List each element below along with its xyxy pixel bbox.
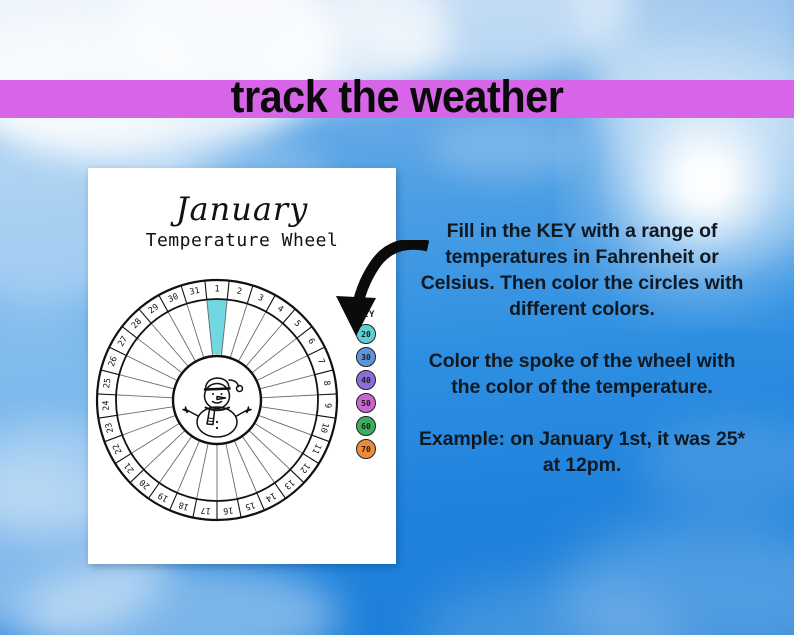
wheel-spoke[interactable] [258, 415, 311, 435]
wheel-day-label: 3 [256, 293, 265, 304]
key-circle[interactable]: 40 [356, 370, 376, 390]
key-label: KEY [338, 310, 394, 320]
wheel-day-label: 10 [318, 421, 330, 433]
wheel-day-label: 15 [244, 499, 257, 512]
cloud [430, 120, 580, 180]
wheel-spoke[interactable] [131, 423, 179, 453]
wheel-band-divider [193, 499, 197, 518]
key-circle[interactable]: 30 [356, 347, 376, 367]
wheel-day-label: 24 [101, 400, 112, 411]
wheel-day-label: 17 [200, 504, 211, 515]
wheel-day-label: 8 [321, 380, 332, 387]
wheel-spoke[interactable] [197, 443, 208, 499]
wheel-spoke[interactable] [126, 356, 177, 381]
wheel-day-label: 28 [130, 317, 144, 331]
wheel-band-divider [257, 493, 264, 510]
key-circle[interactable]: 60 [356, 416, 376, 436]
wheel-spoke[interactable] [260, 407, 316, 416]
temperature-wheel-svg: 1234567891011121314151617181920212223242… [93, 276, 341, 524]
instruction-paragraph-2: Color the spoke of the wheel with the co… [412, 348, 752, 400]
wheel-spoke[interactable] [257, 356, 308, 381]
key-row: 20 [338, 324, 394, 344]
wheel-day-label: 23 [104, 421, 116, 433]
wheel-day-label: 19 [156, 490, 170, 504]
wheel-band-divider [247, 286, 253, 304]
worksheet-page: January Temperature Wheel 12345678910111… [88, 168, 396, 564]
wheel-spoke[interactable] [242, 436, 275, 483]
wheel-day-label: 21 [123, 461, 137, 475]
wheel-spoke[interactable] [117, 407, 173, 416]
wheel-spoke[interactable] [249, 430, 290, 469]
wheel-spoke[interactable] [122, 415, 175, 435]
wheel-day-label: 30 [167, 292, 180, 305]
wheel-band-divider [181, 286, 187, 304]
wheel-band-divider [297, 327, 312, 339]
wheel-day-label: 31 [189, 286, 201, 298]
key-circle[interactable]: 50 [356, 393, 376, 413]
wheel-day-label: 13 [282, 477, 296, 491]
wheel-band-divider [101, 370, 119, 375]
wheel-spoke[interactable] [254, 423, 302, 453]
wheel-band-divider [318, 394, 337, 395]
wheel-band-divider [97, 394, 116, 395]
key-circle-list: 203040506070 [338, 324, 394, 459]
wheel-band-divider [98, 415, 117, 418]
wheel-day-label: 6 [305, 337, 316, 347]
wheel-band-divider [266, 295, 275, 312]
key-row: 70 [338, 439, 394, 459]
wheel-band-divider [283, 309, 295, 323]
wheel-day-label: 25 [102, 377, 113, 389]
wheel-day-label: 16 [223, 504, 234, 515]
wheel-band-divider [227, 281, 229, 300]
instructions-block: Fill in the KEY with a range of temperat… [412, 218, 752, 478]
wheel-day-label: 26 [107, 355, 120, 368]
wheel-spoke[interactable] [137, 338, 182, 373]
wheel-spoke[interactable] [234, 440, 256, 492]
wheel-day-label: 18 [178, 499, 191, 512]
wheel-spoke[interactable] [252, 338, 297, 373]
wheel-day-label: 5 [292, 319, 303, 330]
wheel-spoke[interactable] [144, 430, 185, 469]
key-legend: KEY 203040506070 [338, 310, 394, 496]
wheel-spoke[interactable] [260, 375, 315, 389]
instruction-paragraph-1: Fill in the KEY with a range of temperat… [412, 218, 752, 322]
wheel-day-label: 22 [111, 442, 124, 456]
wheel-day-label: 12 [297, 461, 311, 475]
key-circle[interactable]: 20 [356, 324, 376, 344]
wheel-band-divider [205, 281, 207, 300]
wheel-spoke[interactable] [261, 395, 318, 398]
wheel-day-label: 27 [116, 335, 130, 349]
wheel-spoke[interactable] [246, 323, 283, 366]
wheel-day-label: 9 [322, 403, 332, 409]
instruction-paragraph-3: Example: on January 1st, it was 25* at 1… [412, 426, 752, 478]
wheel-spoke[interactable] [119, 375, 174, 389]
worksheet-month-title: January [88, 190, 396, 228]
wheel-spoke[interactable] [177, 440, 199, 492]
wheel-day-label: 7 [315, 357, 326, 365]
wheel-day-label: 20 [138, 477, 152, 491]
screenshot-stage: track the weather January Temperature Wh… [0, 0, 794, 635]
wheel-spoke[interactable] [116, 395, 173, 398]
key-row: 60 [338, 416, 394, 436]
wheel-day-label: 11 [309, 442, 322, 456]
wheel-spoke[interactable] [226, 443, 237, 499]
wheel-band-divider [312, 435, 330, 442]
banner-title: track the weather [32, 66, 762, 128]
wheel-band-divider [315, 370, 333, 375]
key-row: 40 [338, 370, 394, 390]
wheel-band-divider [317, 415, 336, 418]
key-row: 30 [338, 347, 394, 367]
wheel-day-label: 1 [214, 285, 219, 295]
wheel-day-label: 4 [275, 304, 285, 315]
wheel-day-label: 2 [236, 286, 243, 297]
wheel-band-divider [104, 435, 122, 442]
wheel-band-divider [237, 499, 241, 518]
key-circle[interactable]: 70 [356, 439, 376, 459]
wheel-spoke[interactable] [159, 436, 192, 483]
key-row: 50 [338, 393, 394, 413]
wheel-day-label: 14 [264, 490, 278, 504]
wheel-day-label: 29 [147, 302, 161, 316]
wheel-band-divider [308, 347, 325, 355]
wheel-spoke[interactable] [151, 323, 188, 366]
temperature-wheel: 1234567891011121314151617181920212223242… [93, 276, 341, 524]
worksheet-subtitle: Temperature Wheel [88, 230, 396, 251]
